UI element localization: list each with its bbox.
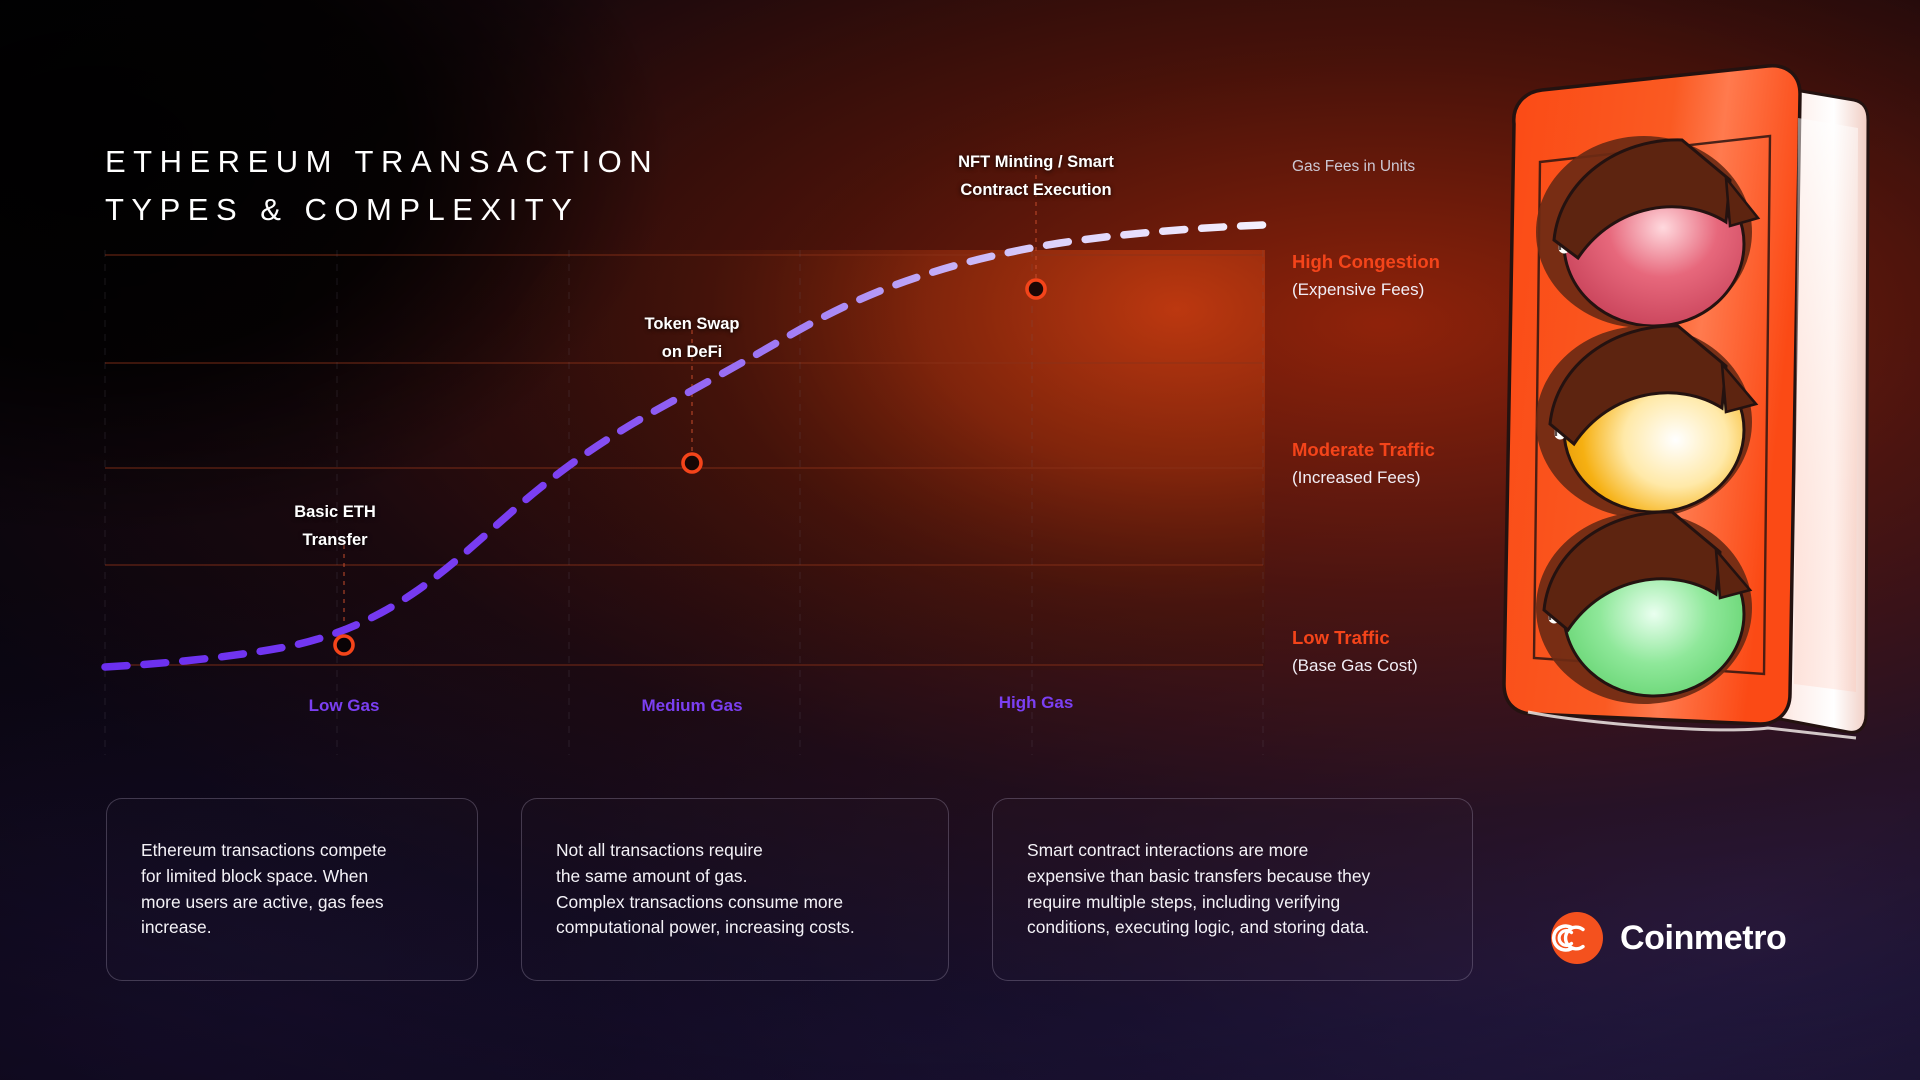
annotation-basic-eth-transfer: Basic ETH Transfer	[245, 498, 425, 554]
infographic-root: Ethereum Transaction Types & Complexity …	[0, 0, 1920, 1080]
info-card-text: Smart contract interactions are more exp…	[1027, 838, 1370, 940]
info-card-text: Ethereum transactions compete for limite…	[141, 838, 387, 940]
housing-edge-glow	[1794, 118, 1858, 692]
coinmetro-logo[interactable]: Coinmetro	[1551, 912, 1786, 964]
x-axis-label-medium-gas: Medium Gas	[602, 696, 782, 716]
info-card-smart-contracts: Smart contract interactions are more exp…	[992, 798, 1473, 981]
annotation-nft-minting: NFT Minting / Smart Contract Execution	[908, 148, 1164, 204]
page-title: Ethereum Transaction Types & Complexity	[105, 138, 659, 234]
coinmetro-c-icon	[1551, 912, 1603, 964]
x-axis-label-high-gas: High Gas	[946, 693, 1126, 713]
traffic-light-illustration	[1468, 62, 1888, 822]
annotation-token-swap: Token Swap on DeFi	[592, 310, 792, 366]
coinmetro-wordmark: Coinmetro	[1620, 919, 1786, 958]
y-axis-title: Gas Fees in Units	[1292, 158, 1415, 176]
info-card-row: Ethereum transactions compete for limite…	[106, 798, 1473, 981]
x-axis-label-low-gas: Low Gas	[254, 696, 434, 716]
traffic-light-green-lamp	[1536, 512, 1752, 704]
info-card-gas-variation: Not all transactions require the same am…	[521, 798, 949, 981]
info-card-block-space: Ethereum transactions compete for limite…	[106, 798, 478, 981]
info-card-text: Not all transactions require the same am…	[556, 838, 855, 940]
